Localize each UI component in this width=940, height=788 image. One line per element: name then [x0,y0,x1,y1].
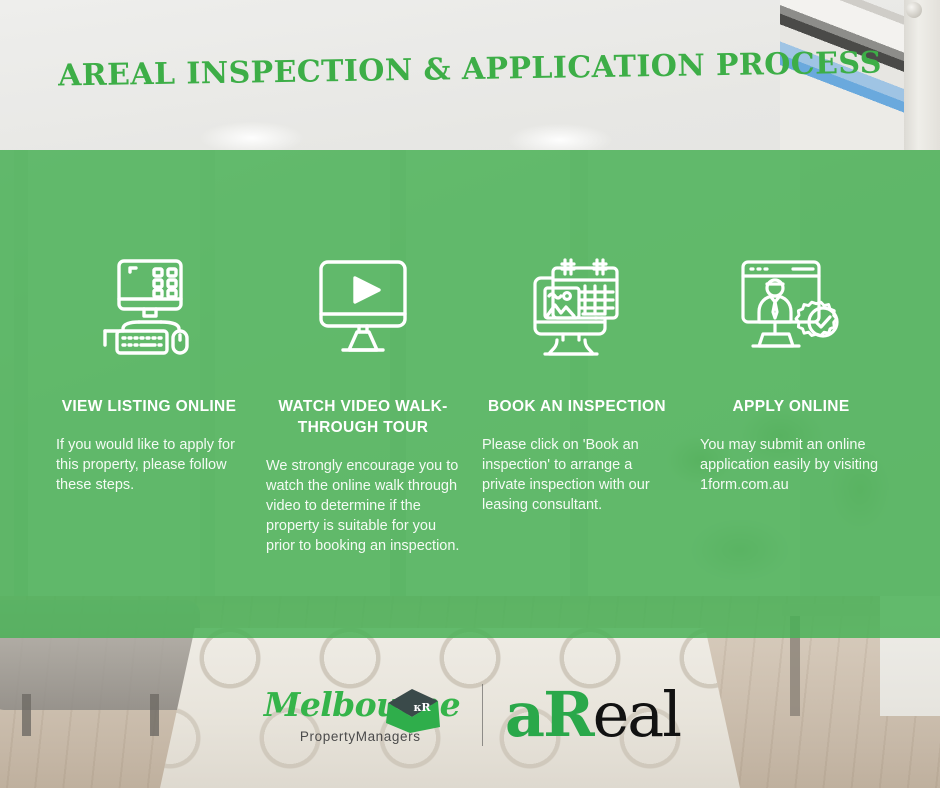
footer-logos: Melbourne кR PropertyManagers aReal [0,660,940,770]
logo-divider [482,684,483,746]
step-heading: APPLY ONLINE [692,396,890,417]
process-step-watch-video: WATCH VIDEO WALK-THROUGH TOUR We strongl… [256,252,470,556]
step-body: Please click on 'Book an inspection' to … [478,435,676,515]
areal-logo-green-part: aR [505,678,593,751]
areal-logo: aReal [505,684,680,746]
calendar-booking-monitor-icon [478,252,676,364]
poster-title-bar: AREAL INSPECTION & APPLICATION PROCESS [0,52,940,87]
desktop-listing-icon [50,252,248,364]
step-heading: BOOK AN INSPECTION [478,396,676,417]
roof-monogram-letter: кR [413,701,431,714]
step-body: We strongly encourage you to watch the o… [264,456,462,556]
step-heading: VIEW LISTING ONLINE [50,396,248,417]
page-title: AREAL INSPECTION & APPLICATION PROCESS [58,46,882,94]
online-application-gear-icon [692,252,890,364]
process-step-book-inspection: BOOK AN INSPECTION Please click on 'Book… [470,252,684,515]
areal-logo-black-part: eal [593,678,680,751]
step-body: If you would like to apply for this prop… [50,435,248,495]
melbourne-property-managers-logo: Melbourne кR PropertyManagers [260,673,460,757]
process-steps-row: VIEW LISTING ONLINE If you would like to… [0,252,940,556]
video-play-monitor-icon [264,252,462,364]
step-heading: WATCH VIDEO WALK-THROUGH TOUR [264,396,462,438]
infographic-poster: AREAL INSPECTION & APPLICATION PROCESS [0,0,940,788]
process-step-apply-online: APPLY ONLINE You may submit an online ap… [684,252,898,495]
step-body: You may submit an online application eas… [692,435,890,495]
roof-monogram-icon: кR [382,687,444,733]
process-step-view-listing: VIEW LISTING ONLINE If you would like to… [42,252,256,495]
property-managers-subtitle: PropertyManagers [300,729,421,744]
curtain-rod-end [906,2,922,18]
